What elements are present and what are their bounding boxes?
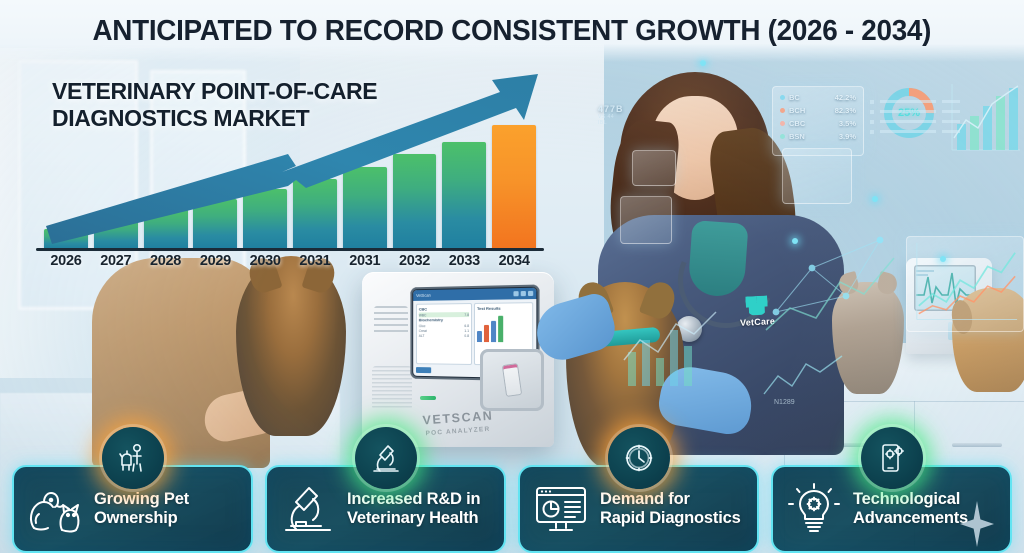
bar-2030 xyxy=(243,189,287,249)
person-with-dog-icon xyxy=(116,441,150,475)
infographic-canvas: VetScan CBC WBC7.8 Biochemistry Gluc6.8 … xyxy=(0,0,1024,553)
card-growing-pet-ownership[interactable]: Growing Pet Ownership xyxy=(12,465,253,553)
bar-2034 xyxy=(492,125,536,249)
bar-2033 xyxy=(442,142,486,249)
microscope-badge-icon xyxy=(369,441,403,475)
lightbulb-gear-icon xyxy=(785,482,843,536)
tablet-gears-icon xyxy=(875,441,909,475)
card-label: Growing Pet Ownership xyxy=(94,490,189,529)
badge-tablet-gears xyxy=(861,427,923,489)
dog-cat-icon xyxy=(26,482,84,536)
dashboard-monitor-icon xyxy=(532,482,590,536)
year-label: 2029 xyxy=(193,253,237,275)
clock-icon xyxy=(622,441,656,475)
bar-2026 xyxy=(44,229,88,249)
bar-2031-b xyxy=(343,167,387,249)
badge-clock xyxy=(608,427,670,489)
dashboard-monitor-glyph xyxy=(532,482,590,536)
card-increased-rd[interactable]: Increased R&D in Veterinary Health xyxy=(265,465,506,553)
feature-cards: Growing Pet Ownership xyxy=(0,443,1024,553)
microscope-icon xyxy=(279,482,337,536)
hud-node-dot xyxy=(940,256,946,262)
badge-person-with-dog xyxy=(102,427,164,489)
bar-2028 xyxy=(144,209,188,249)
year-label: 2028 xyxy=(144,253,188,275)
card-label: Increased R&D in Veterinary Health xyxy=(347,490,480,529)
card-label: Demand for Rapid Diagnostics xyxy=(600,490,741,529)
year-label: 2031 xyxy=(293,253,337,275)
card-rapid-diagnostics[interactable]: Demand for Rapid Diagnostics xyxy=(518,465,759,553)
card-label: Technological Advancements xyxy=(853,490,968,529)
hud-node-dot xyxy=(872,196,878,202)
year-label: 2034 xyxy=(492,253,536,275)
hud-node-dot xyxy=(792,238,798,244)
year-label: 2027 xyxy=(94,253,138,275)
chart-axis-line xyxy=(36,248,544,251)
bar-2032 xyxy=(393,154,437,249)
dog-cat-glyph xyxy=(26,482,84,536)
growth-bar-chart: VETERINARY POINT-OF-CARE DIAGNOSTICS MAR… xyxy=(30,62,550,277)
header-bar: ANTICIPATED TO RECORD CONSISTENT GROWTH … xyxy=(0,0,1024,62)
year-label: 2030 xyxy=(243,253,287,275)
year-label: 2026 xyxy=(44,253,88,275)
lightbulb-gear-glyph xyxy=(785,482,843,536)
card-technological-advancements[interactable]: Technological Advancements xyxy=(771,465,1012,553)
year-label: 2032 xyxy=(393,253,437,275)
page-title: ANTICIPATED TO RECORD CONSISTENT GROWTH … xyxy=(93,15,932,48)
year-label: 2033 xyxy=(442,253,486,275)
badge-microscope xyxy=(355,427,417,489)
bar-2029 xyxy=(193,199,237,249)
chart-year-labels: 2026 2027 2028 2029 2030 2031 2031 2032 … xyxy=(44,253,536,275)
chart-title: VETERINARY POINT-OF-CARE DIAGNOSTICS MAR… xyxy=(52,78,377,132)
microscope-glyph xyxy=(279,482,337,536)
bar-2031-a xyxy=(293,179,337,249)
year-label: 2031 xyxy=(343,253,387,275)
bar-2027 xyxy=(94,218,138,249)
